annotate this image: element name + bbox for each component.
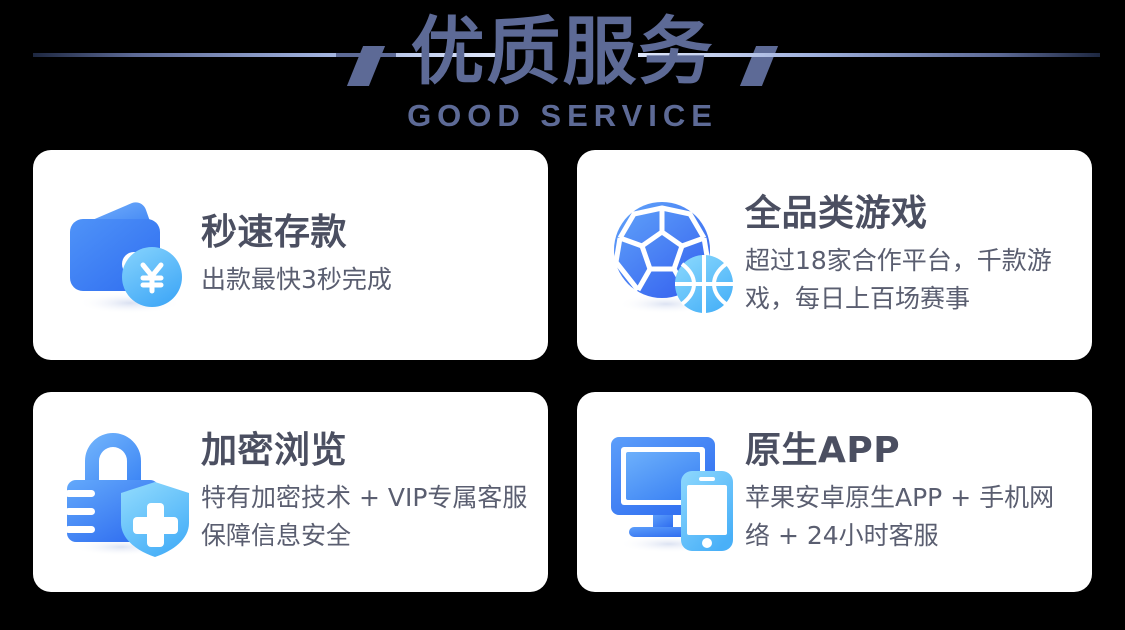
page-title: 优质服务 [0, 6, 1125, 98]
card-description: 出款最快3秒完成 [201, 261, 530, 299]
card-text: 秒速存款 出款最快3秒完成 [197, 211, 530, 299]
wallet-yen-icon [59, 190, 197, 320]
card-text: 全品类游戏 超过18家合作平台，千款游戏，每日上百场赛事 [741, 192, 1074, 318]
card-title: 原生APP [745, 429, 1074, 473]
monitor-phone-icon [603, 427, 741, 557]
feature-card-native-app[interactable]: 原生APP 苹果安卓原生APP + 手机网络 + 24小时客服 [577, 392, 1092, 592]
card-title: 加密浏览 [201, 429, 530, 473]
card-description: 特有加密技术 + VIP专属客服保障信息安全 [201, 479, 530, 555]
feature-card-encryption[interactable]: 加密浏览 特有加密技术 + VIP专属客服保障信息安全 [33, 392, 548, 592]
promo-banner: 优质服务 GOOD SERVICE [0, 0, 1125, 630]
card-title: 秒速存款 [201, 211, 530, 255]
card-description: 苹果安卓原生APP + 手机网络 + 24小时客服 [745, 479, 1074, 555]
lock-shield-icon [59, 427, 197, 557]
feature-card-grid: 秒速存款 出款最快3秒完成 [33, 150, 1092, 592]
feature-card-deposit[interactable]: 秒速存款 出款最快3秒完成 [33, 150, 548, 360]
feature-card-games[interactable]: 全品类游戏 超过18家合作平台，千款游戏，每日上百场赛事 [577, 150, 1092, 360]
page-subtitle: GOOD SERVICE [0, 98, 1125, 134]
card-text: 原生APP 苹果安卓原生APP + 手机网络 + 24小时客服 [741, 429, 1074, 555]
soccer-basketball-icon [603, 190, 741, 320]
card-title: 全品类游戏 [745, 192, 1074, 236]
card-description: 超过18家合作平台，千款游戏，每日上百场赛事 [745, 242, 1074, 318]
card-text: 加密浏览 特有加密技术 + VIP专属客服保障信息安全 [197, 429, 530, 555]
banner-header: 优质服务 GOOD SERVICE [0, 0, 1125, 150]
